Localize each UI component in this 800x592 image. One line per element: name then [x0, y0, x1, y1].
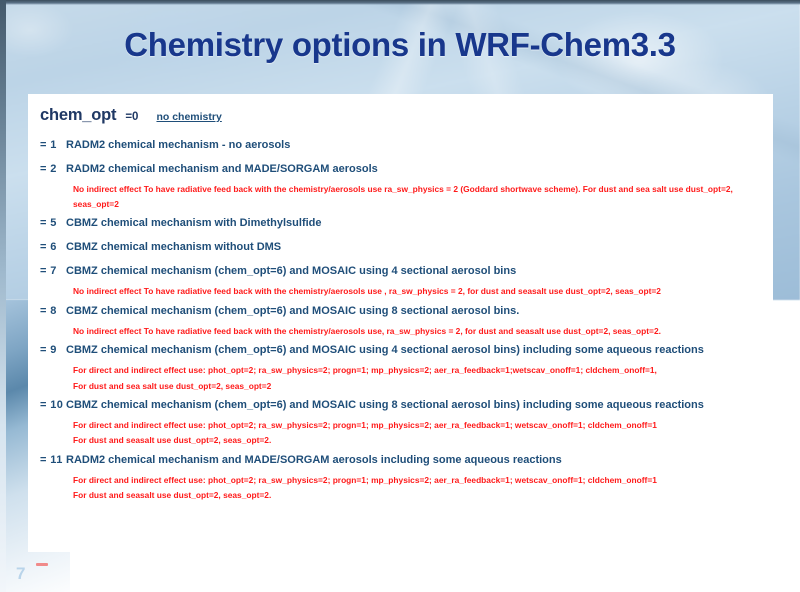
- option-label: CBMZ chemical mechanism (chem_opt=6) and…: [66, 400, 765, 411]
- option-label: CBMZ chemical mechanism with Dimethylsul…: [66, 218, 765, 229]
- option-note: For direct and indirect effect use: phot…: [73, 417, 765, 432]
- option-note: seas_opt=2: [73, 196, 765, 211]
- option-number: = 11: [40, 455, 66, 466]
- chem-opt-header: chem_opt =0 no chemistry: [40, 106, 765, 125]
- option-entry: = 9CBMZ chemical mechanism (chem_opt=6) …: [40, 339, 765, 394]
- option-main-line: = 1RADM2 chemical mechanism - no aerosol…: [40, 133, 765, 157]
- option-number: = 6: [40, 242, 66, 253]
- option-entry: = 11RADM2 chemical mechanism and MADE/SO…: [40, 448, 765, 503]
- slide: Chemistry options in WRF-Chem3.3 chem_op…: [0, 0, 800, 592]
- option-main-line: = 5CBMZ chemical mechanism with Dimethyl…: [40, 212, 765, 236]
- option-note: For dust and seasalt use dust_opt=2, sea…: [73, 433, 765, 448]
- option-note: For dust and seasalt use dust_opt=2, sea…: [73, 488, 765, 503]
- option-note: For direct and indirect effect use: phot…: [73, 363, 765, 378]
- option-label: CBMZ chemical mechanism (chem_opt=6) and…: [66, 306, 765, 317]
- option-number: = 5: [40, 218, 66, 229]
- page-number: 7: [16, 564, 25, 584]
- option-main-line: = 11RADM2 chemical mechanism and MADE/SO…: [40, 448, 765, 472]
- option-label: RADM2 chemical mechanism - no aerosols: [66, 140, 765, 151]
- option-label: RADM2 chemical mechanism and MADE/SORGAM…: [66, 455, 765, 466]
- option-number: = 8: [40, 306, 66, 317]
- option-number: = 2: [40, 164, 66, 175]
- option-entry: = 8CBMZ chemical mechanism (chem_opt=6) …: [40, 299, 765, 338]
- option-label: CBMZ chemical mechanism (chem_opt=6) and…: [66, 266, 765, 277]
- option-label: CBMZ chemical mechanism without DMS: [66, 242, 765, 253]
- option-note: No indirect effect To have radiative fee…: [73, 284, 765, 299]
- option-entry: = 6CBMZ chemical mechanism without DMS: [40, 236, 765, 260]
- background-left-edge: [0, 0, 6, 592]
- option-entry: = 5CBMZ chemical mechanism with Dimethyl…: [40, 212, 765, 236]
- option-main-line: = 8CBMZ chemical mechanism (chem_opt=6) …: [40, 299, 765, 323]
- option-note: For direct and indirect effect use: phot…: [73, 472, 765, 487]
- option-note: For dust and sea salt use dust_opt=2, se…: [73, 378, 765, 393]
- options-list: = 1RADM2 chemical mechanism - no aerosol…: [36, 133, 765, 503]
- option-entry: = 10CBMZ chemical mechanism (chem_opt=6)…: [40, 393, 765, 448]
- option-number: = 7: [40, 266, 66, 277]
- option-number: = 10: [40, 400, 66, 411]
- option-entry: = 1RADM2 chemical mechanism - no aerosol…: [40, 133, 765, 157]
- background-top-edge: [0, 0, 800, 5]
- slide-title: Chemistry options in WRF-Chem3.3: [0, 26, 800, 64]
- content-panel-inner: chem_opt =0 no chemistry = 1RADM2 chemic…: [28, 94, 773, 503]
- option-note: No indirect effect To have radiative fee…: [73, 181, 765, 196]
- chem-opt-description: no chemistry: [156, 111, 221, 123]
- option-main-line: = 10CBMZ chemical mechanism (chem_opt=6)…: [40, 393, 765, 417]
- option-main-line: = 6CBMZ chemical mechanism without DMS: [40, 236, 765, 260]
- content-panel: chem_opt =0 no chemistry = 1RADM2 chemic…: [28, 94, 773, 552]
- option-number: = 9: [40, 345, 66, 356]
- chem-opt-keyword: chem_opt: [40, 106, 116, 125]
- footer-dash-mark: [36, 563, 48, 566]
- option-main-line: = 2RADM2 chemical mechanism and MADE/SOR…: [40, 157, 765, 181]
- option-entry: = 2RADM2 chemical mechanism and MADE/SOR…: [40, 157, 765, 212]
- option-main-line: = 7CBMZ chemical mechanism (chem_opt=6) …: [40, 260, 765, 284]
- option-main-line: = 9CBMZ chemical mechanism (chem_opt=6) …: [40, 339, 765, 363]
- option-label: RADM2 chemical mechanism and MADE/SORGAM…: [66, 164, 765, 175]
- option-note: No indirect effect To have radiative fee…: [73, 323, 765, 338]
- option-number: = 1: [40, 140, 66, 151]
- option-entry: = 7CBMZ chemical mechanism (chem_opt=6) …: [40, 260, 765, 299]
- chem-opt-value: =0: [125, 111, 138, 123]
- option-label: CBMZ chemical mechanism (chem_opt=6) and…: [66, 345, 765, 356]
